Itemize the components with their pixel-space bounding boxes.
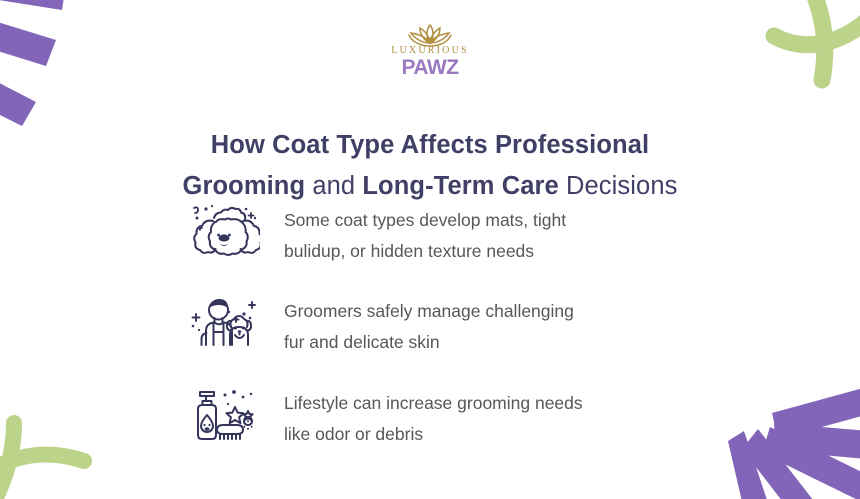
list-item: Groomers safely manage challenging fur a…	[186, 291, 706, 358]
list-item-text: Some coat types develop mats, tight buli…	[262, 200, 706, 267]
curly-coat-dog-face-icon	[186, 200, 262, 266]
headline-line-1: How Coat Type Affects Professional	[0, 125, 860, 166]
shampoo-bottle-and-brush-icon	[186, 383, 262, 449]
brand-name-top: LUXURIOUS	[0, 46, 860, 56]
slide-canvas: LUXURIOUS PAWZ How Coat Type Affects Pro…	[0, 0, 860, 499]
list-item: Lifestyle can increase grooming needs li…	[186, 383, 706, 450]
list-item-text-line-1: Lifestyle can increase grooming needs	[284, 388, 706, 419]
headline-conjunction: and	[305, 172, 362, 200]
brand-logo: LUXURIOUS PAWZ	[0, 22, 860, 79]
list-item-text-line-2: like odor or debris	[284, 419, 706, 450]
page-title: How Coat Type Affects Professional Groom…	[0, 125, 860, 207]
benefit-list: Some coat types develop mats, tight buli…	[186, 200, 706, 450]
list-item-text-line-2: fur and delicate skin	[284, 327, 706, 358]
purple-ray-burst-bottom-right-icon	[700, 369, 860, 499]
list-item-text: Lifestyle can increase grooming needs li…	[262, 383, 706, 450]
list-item-text: Groomers safely manage challenging fur a…	[262, 291, 706, 358]
headline-emphasis-grooming: Grooming	[183, 172, 306, 200]
green-brush-cross-bottom-left-icon	[0, 395, 115, 499]
brand-name-bottom: PAWZ	[0, 57, 860, 79]
brand-wordmark: LUXURIOUS PAWZ	[0, 46, 860, 79]
list-item: Some coat types develop mats, tight buli…	[186, 200, 706, 267]
headline-suffix-decisions: Decisions	[559, 172, 678, 200]
list-item-text-line-1: Some coat types develop mats, tight	[284, 205, 706, 236]
groomer-with-dog-icon	[186, 291, 262, 357]
list-item-text-line-1: Groomers safely manage challenging	[284, 296, 706, 327]
headline-emphasis-long-term-care: Long-Term Care	[362, 172, 558, 200]
list-item-text-line-2: bulidup, or hidden texture needs	[284, 236, 706, 267]
